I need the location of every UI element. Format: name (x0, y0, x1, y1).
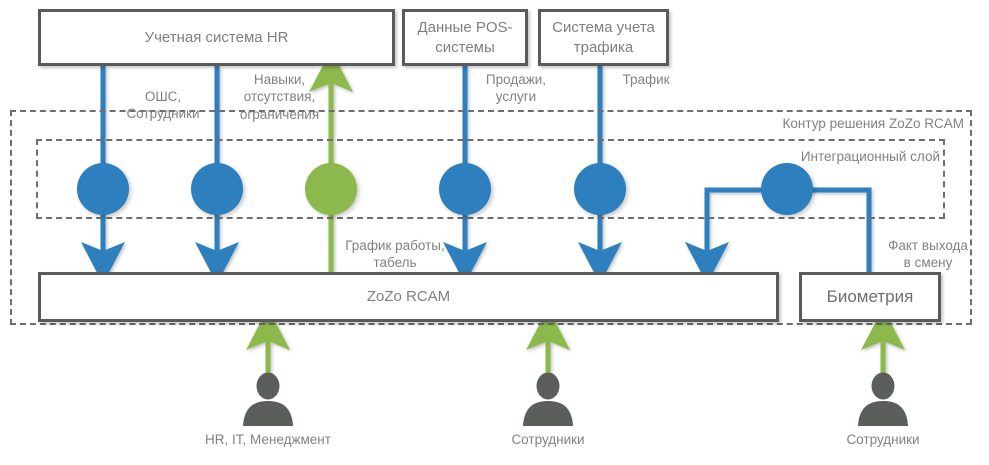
system-box-rcam[interactable]: ZoZo RCAM (38, 272, 779, 322)
integration-node-3[interactable] (305, 163, 357, 215)
integration-node-1[interactable] (77, 163, 129, 215)
integration-node-4[interactable] (439, 163, 491, 215)
flow-label-skills: Навыки, отсутствия, ограничения (222, 71, 337, 123)
integration-layer-label: Интеграционный слой (798, 149, 943, 164)
solution-boundary-label: Контур решения ZoZo RCAM (780, 116, 967, 131)
system-box-biometrics[interactable]: Биометрия (799, 272, 941, 322)
system-box-traffic-label: Система учета трафика (541, 18, 666, 56)
flow-label-traffic: Трафик (606, 71, 686, 88)
integration-node-6[interactable] (761, 163, 813, 215)
actor-staff-2-label: Сотрудники (808, 432, 958, 447)
actor-staff-1-label: Сотрудники (473, 432, 623, 447)
system-box-hr-label: Учетная система HR (139, 28, 295, 47)
flow-label-schedule: График работы, табель (336, 237, 454, 272)
diagram-canvas: Контур решения ZoZo RCAM Интеграционный … (0, 0, 989, 465)
integration-node-2[interactable] (191, 163, 243, 215)
integration-node-5[interactable] (574, 163, 626, 215)
actor-management[interactable]: HR, IT, Менеджмент (193, 370, 343, 447)
system-box-pos[interactable]: Данные POS- системы (402, 9, 528, 66)
flow-label-shift: Факт выхода в смену (874, 237, 982, 272)
person-icon (193, 370, 343, 428)
actor-staff-1[interactable]: Сотрудники (473, 370, 623, 447)
system-box-rcam-label: ZoZo RCAM (361, 287, 456, 306)
actor-staff-2[interactable]: Сотрудники (808, 370, 958, 447)
flow-label-oshs: ОШС, Сотрудники (108, 88, 218, 123)
actor-management-label: HR, IT, Менеджмент (193, 432, 343, 447)
system-box-hr[interactable]: Учетная система HR (38, 9, 395, 66)
system-box-traffic[interactable]: Система учета трафика (538, 9, 669, 66)
system-box-pos-label: Данные POS- системы (405, 18, 525, 56)
person-icon (808, 370, 958, 428)
system-box-biometrics-label: Биометрия (821, 286, 920, 308)
person-icon (473, 370, 623, 428)
flow-label-sales: Продажи, услуги (470, 71, 562, 106)
